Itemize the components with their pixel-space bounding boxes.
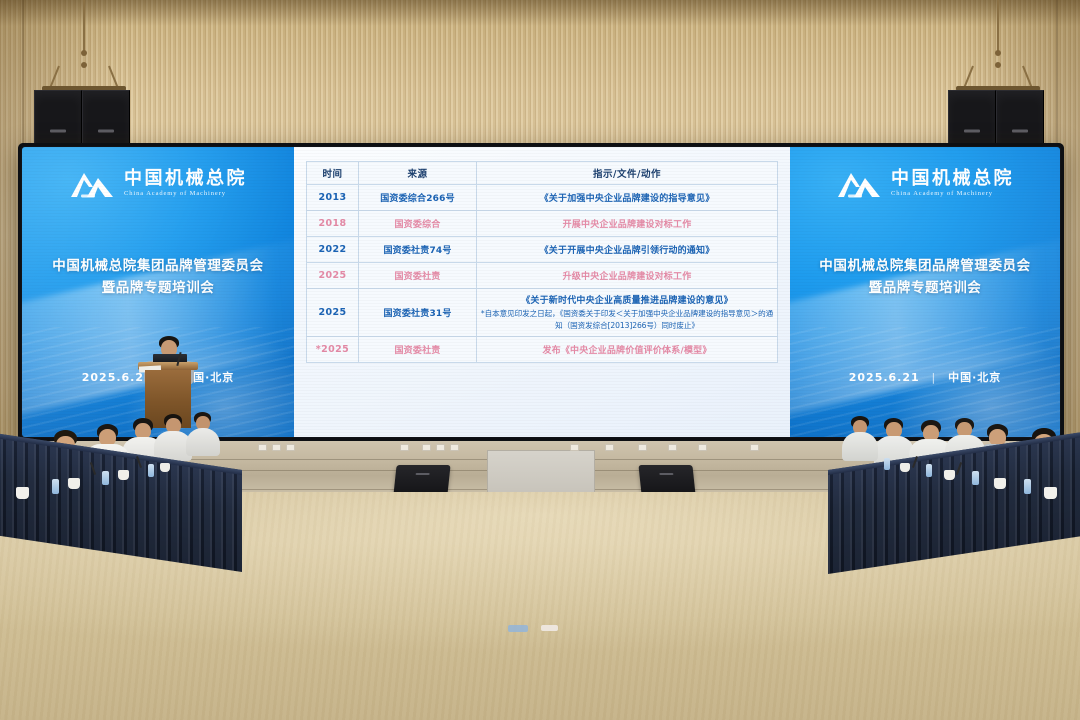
speaker-cable — [83, 0, 85, 52]
tea-cup — [118, 470, 129, 480]
wall-outlet — [638, 444, 647, 451]
speaker-rigging-knot — [995, 50, 1001, 56]
tea-cup — [994, 478, 1006, 489]
floor-object — [508, 625, 528, 632]
water-bottle — [52, 479, 59, 494]
floor-monitor-speaker-left — [393, 465, 450, 495]
water-bottle — [148, 464, 154, 477]
wall-outlet — [436, 444, 445, 451]
water-bottle — [972, 471, 979, 485]
wall-outlet — [668, 444, 677, 451]
water-bottle — [926, 464, 932, 477]
speaker-array-left — [34, 22, 134, 162]
speaker-cable — [997, 0, 999, 52]
stage-access-panel — [487, 450, 595, 496]
water-bottle — [884, 458, 890, 470]
attendee — [840, 416, 880, 461]
wall-top-shadow — [0, 0, 1080, 26]
wall-outlet — [750, 444, 759, 451]
wall-outlet — [272, 444, 281, 451]
attendee-torso — [842, 432, 878, 461]
wall-outlet — [286, 444, 295, 451]
tea-cup — [944, 470, 955, 480]
floor-object — [541, 625, 558, 631]
wall-outlet — [698, 444, 707, 451]
wall-outlet — [605, 444, 614, 451]
tea-cup — [1044, 487, 1057, 499]
wall-outlet — [422, 444, 431, 451]
floor-monitor-speaker-right — [638, 465, 695, 495]
wall-outlet — [450, 444, 459, 451]
tea-cup — [900, 463, 910, 472]
attendee-torso — [186, 428, 220, 456]
conference-hall-scene: 中国机械总院 China Academy of Machinery 中国机械总院… — [0, 0, 1080, 720]
wall-outlet — [570, 444, 579, 451]
wall-outlet — [400, 444, 409, 451]
speaker-rigging-knot — [81, 50, 87, 56]
tea-cup — [160, 463, 170, 472]
speaker-rigging-knot — [81, 62, 87, 68]
wall-outlet — [258, 444, 267, 451]
speaker-rigging-knot — [995, 62, 1001, 68]
wall-outlet-strip — [250, 443, 830, 452]
tea-cup — [16, 487, 29, 499]
attendee — [184, 412, 222, 456]
water-bottle — [102, 471, 109, 485]
speaker-array-right — [948, 22, 1048, 162]
tea-cup — [68, 478, 80, 489]
water-bottle — [1024, 479, 1031, 494]
